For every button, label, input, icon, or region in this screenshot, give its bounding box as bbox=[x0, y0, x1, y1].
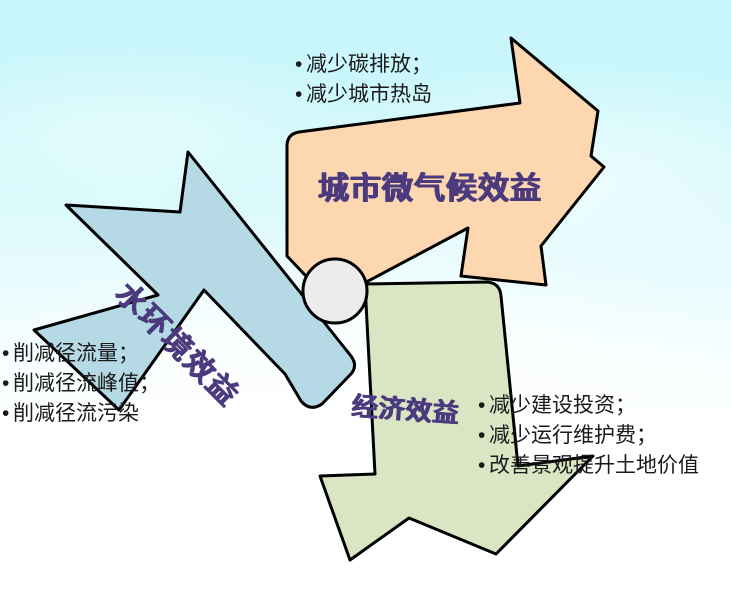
bullet-marker-icon: • bbox=[2, 399, 13, 429]
list-item-text: 削减径流峰值； bbox=[13, 372, 160, 395]
bullet-list-economic: •减少建设投资； •减少运行维护费； •改善景观提升土地价值 bbox=[478, 391, 699, 480]
list-item: •削减径流量； bbox=[2, 339, 160, 369]
arrow-label-economic: 经济效益 bbox=[351, 386, 461, 430]
bullet-list-water: •削减径流量； •削减径流峰值； •削减径流污染 bbox=[2, 339, 160, 428]
arrow-label-microclimate: 城市微气候效益 bbox=[318, 163, 542, 208]
center-hub-circle bbox=[303, 259, 367, 323]
bullet-list-microclimate: •减少碳排放； •减少城市热岛 bbox=[295, 50, 432, 110]
list-item: •削减径流污染 bbox=[2, 399, 160, 429]
bullet-marker-icon: • bbox=[2, 369, 13, 399]
bullet-marker-icon: • bbox=[295, 50, 306, 80]
bullet-marker-icon: • bbox=[295, 80, 306, 110]
list-item: •减少运行维护费； bbox=[478, 421, 699, 451]
list-item: •削减径流峰值； bbox=[2, 369, 160, 399]
list-item: •减少建设投资； bbox=[478, 391, 699, 421]
list-item-text: 减少运行维护费； bbox=[489, 424, 657, 447]
bullet-marker-icon: • bbox=[2, 339, 13, 369]
list-item: •减少碳排放； bbox=[295, 50, 432, 80]
list-item: •减少城市热岛 bbox=[295, 80, 432, 110]
list-item-text: 减少碳排放； bbox=[306, 53, 432, 76]
list-item-text: 改善景观提升土地价值 bbox=[489, 454, 699, 477]
bullet-marker-icon: • bbox=[478, 391, 489, 421]
list-item-text: 削减径流量； bbox=[13, 342, 139, 365]
diagram-canvas: 城市微气候效益 水环境效益 经济效益 •减少碳排放； •减少城市热岛 •削减径流… bbox=[0, 0, 731, 589]
list-item-text: 减少建设投资； bbox=[489, 394, 636, 417]
list-item-text: 削减径流污染 bbox=[13, 402, 139, 425]
bullet-marker-icon: • bbox=[478, 451, 489, 481]
list-item: •改善景观提升土地价值 bbox=[478, 451, 699, 481]
list-item-text: 减少城市热岛 bbox=[306, 83, 432, 106]
bullet-marker-icon: • bbox=[478, 421, 489, 451]
